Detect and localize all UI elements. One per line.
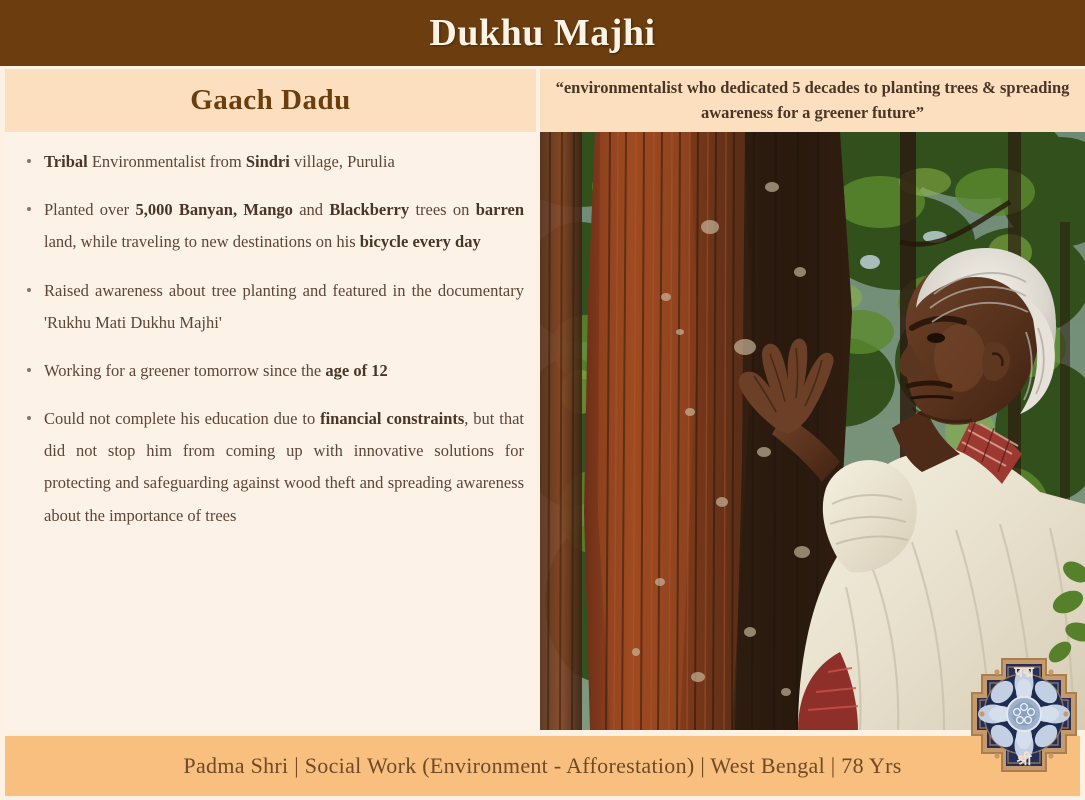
medal-bottom-label: श्री bbox=[1016, 751, 1033, 769]
footer-bar: Padma Shri | Social Work (Environment - … bbox=[5, 736, 1080, 796]
bullet-financial-constraints: Could not complete his education due to … bbox=[19, 403, 528, 532]
medal-top-label: पद्म bbox=[1013, 665, 1035, 681]
bullet-text: Could not complete his education due to bbox=[44, 409, 320, 428]
bullet-planted-trees: Planted over 5,000 Banyan, Mango and Bla… bbox=[19, 194, 528, 258]
bullet-list: Tribal Environmentalist from Sindri vill… bbox=[19, 146, 528, 532]
bullet-text: trees on bbox=[409, 200, 476, 219]
bullet-text: and bbox=[293, 200, 329, 219]
bullet-emphasis: Blackberry bbox=[329, 200, 409, 219]
bullet-awareness-documentary: Raised awareness about tree planting and… bbox=[19, 275, 528, 339]
bullet-text: Raised awareness about tree planting and… bbox=[44, 281, 524, 332]
padma-shri-medal-icon: पद्म श्री bbox=[968, 655, 1080, 780]
bullet-text: Environmentalist from bbox=[88, 152, 246, 171]
footer-text: Padma Shri | Social Work (Environment - … bbox=[183, 753, 901, 779]
bullet-tribal-environmentalist: Tribal Environmentalist from Sindri vill… bbox=[19, 146, 528, 178]
portrait-photo bbox=[540, 132, 1085, 730]
slide-root: Dukhu Majhi Gaach Dadu Tribal Environmen… bbox=[0, 0, 1085, 800]
bullet-emphasis: barren bbox=[476, 200, 524, 219]
bullet-text: Working for a greener tomorrow since the bbox=[44, 361, 325, 380]
quote-text: “environmentalist who dedicated 5 decade… bbox=[550, 76, 1075, 126]
slide-header: Dukhu Majhi bbox=[0, 0, 1085, 66]
bullet-age-of-12: Working for a greener tomorrow since the… bbox=[19, 355, 528, 387]
quote-band: “environmentalist who dedicated 5 decade… bbox=[540, 69, 1085, 132]
bullet-emphasis: bicycle every day bbox=[360, 232, 481, 251]
bullet-text: Planted over bbox=[44, 200, 135, 219]
bullet-emphasis: financial constraints bbox=[320, 409, 464, 428]
bullet-emphasis: Tribal bbox=[44, 152, 88, 171]
page-title: Dukhu Majhi bbox=[429, 11, 655, 55]
bullet-text: village, Purulia bbox=[290, 152, 395, 171]
padma-shri-medal-graphic: पद्म श्री bbox=[968, 655, 1080, 780]
subtitle-text: Gaach Dadu bbox=[190, 84, 351, 117]
photo-illustration bbox=[540, 132, 1085, 730]
bullet-emphasis: 5,000 Banyan, Mango bbox=[135, 200, 292, 219]
bullet-emphasis: Sindri bbox=[246, 152, 290, 171]
left-content-panel: Gaach Dadu Tribal Environmentalist from … bbox=[5, 69, 536, 730]
bullet-emphasis: age of 12 bbox=[325, 361, 387, 380]
subtitle-band: Gaach Dadu bbox=[5, 69, 536, 132]
bullet-text: land, while traveling to new destination… bbox=[44, 232, 360, 251]
bullet-area: Tribal Environmentalist from Sindri vill… bbox=[5, 132, 536, 730]
right-media-panel: “environmentalist who dedicated 5 decade… bbox=[540, 69, 1085, 730]
